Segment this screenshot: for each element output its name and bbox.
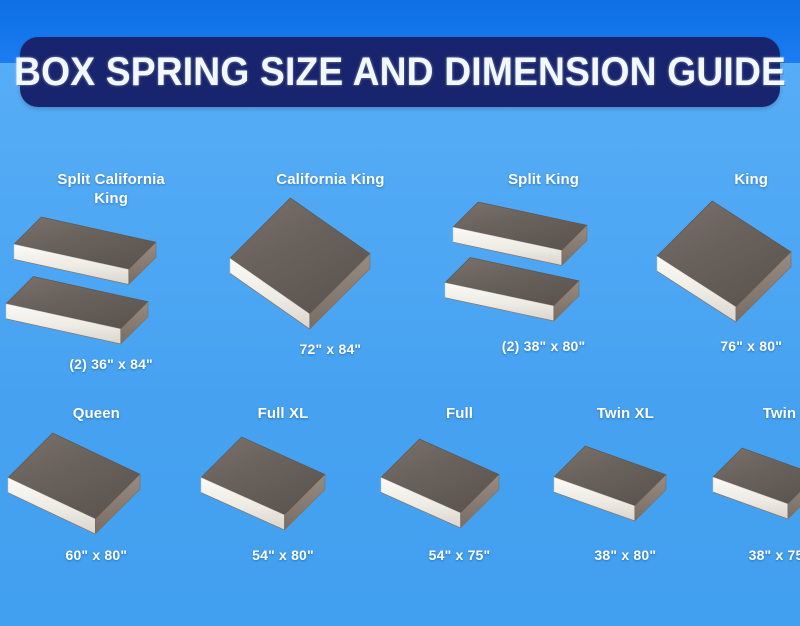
size-dimension-label: 76" x 80" — [720, 338, 782, 354]
size-card: King 76" x 80" — [649, 160, 800, 360]
size-dimension-label: (2) 36" x 84" — [69, 356, 153, 372]
size-dimension-label: 38" x 75" — [749, 547, 800, 563]
size-name-label: California King — [276, 171, 384, 190]
size-dimension-label: 54" x 80" — [252, 547, 314, 563]
size-dimension-label: (2) 38" x 80" — [502, 338, 586, 354]
size-dimension-label: 54" x 75" — [429, 547, 491, 563]
box-spring-illustration — [705, 424, 800, 547]
infographic-poster: BOX SPRING SIZE AND DIMENSION GUIDE Spli… — [0, 0, 800, 626]
size-card: Split California King — [0, 160, 222, 360]
box-spring-illustration — [0, 424, 193, 547]
size-card: Twin 38" x 75" — [705, 392, 800, 567]
size-card: Split King — [439, 160, 649, 360]
size-dimension-label: 38" x 80" — [594, 547, 656, 563]
size-dimension-label: 72" x 84" — [299, 341, 361, 357]
size-row-bottom: Queen 60" x 80"Full XL — [0, 392, 800, 567]
title-banner: BOX SPRING SIZE AND DIMENSION GUIDE — [20, 37, 780, 107]
size-name-label: King — [734, 171, 768, 190]
size-name-label: Split King — [508, 171, 579, 190]
size-name-label: Queen — [73, 405, 120, 424]
size-row-top: Split California King — [0, 160, 800, 360]
box-spring-illustration — [373, 424, 545, 547]
split-box-spring-illustration — [0, 209, 222, 356]
split-box-spring-illustration — [439, 190, 649, 338]
box-spring-illustration — [649, 190, 800, 338]
size-name-label: Twin XL — [597, 405, 654, 424]
size-card: Queen 60" x 80" — [0, 392, 193, 567]
size-card: Full XL 54" x 80" — [193, 392, 374, 567]
box-spring-illustration — [222, 190, 438, 341]
page-title: BOX SPRING SIZE AND DIMENSION GUIDE — [14, 52, 786, 92]
size-card: Twin XL 38" x 80" — [546, 392, 705, 567]
size-card: Full 54" x 75" — [373, 392, 545, 567]
box-spring-illustration — [546, 424, 705, 547]
size-name-label: Full XL — [258, 405, 309, 424]
size-card: California King 72" x 84" — [222, 160, 438, 360]
size-name-label: Split California King — [44, 171, 179, 209]
size-name-label: Full — [446, 405, 473, 424]
size-dimension-label: 60" x 80" — [65, 547, 127, 563]
box-spring-illustration — [193, 424, 374, 547]
size-name-label: Twin — [763, 405, 796, 424]
